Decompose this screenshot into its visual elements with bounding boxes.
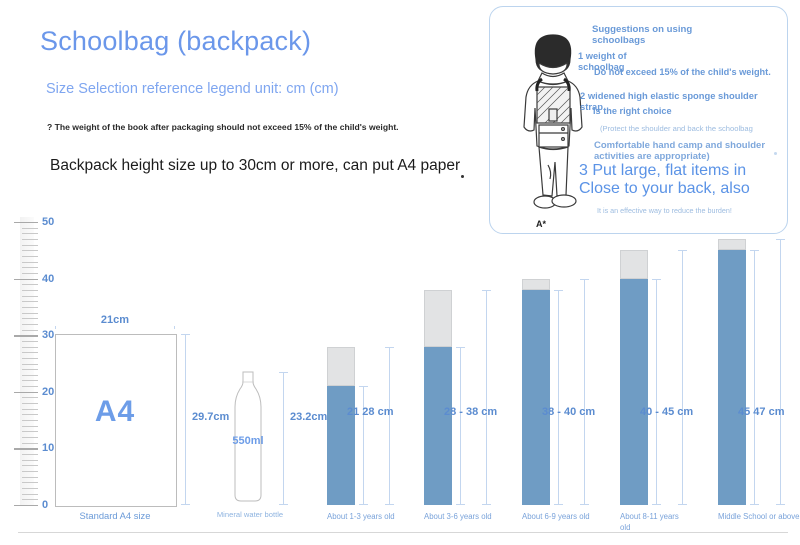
ruler-tick-minor — [22, 228, 38, 229]
a4-caption: Standard A4 size — [40, 510, 190, 521]
ruler-tick-minor — [22, 341, 38, 342]
bar-min-dimension-line — [460, 347, 461, 505]
ruler-tick-minor — [22, 267, 38, 268]
bar-segment-min-height — [327, 386, 355, 505]
ruler-tick-minor — [22, 352, 38, 353]
card-item3: 3 Put large, flat items in Close to your… — [579, 162, 750, 198]
card-heading: Suggestions on using schoolbags — [592, 24, 692, 47]
ruler-tick-minor — [22, 313, 38, 314]
ruler-tick-minor — [22, 409, 38, 410]
y-axis-tick-label: 50 — [42, 216, 54, 228]
ruler-tick-minor — [22, 296, 38, 297]
bar-segment-min-height — [522, 290, 550, 505]
ruler-tick-minor — [22, 250, 38, 251]
ruler-tick-minor — [22, 239, 38, 240]
bottle-height-label: 23.2cm — [290, 411, 327, 423]
y-axis-tick-label: 20 — [42, 386, 54, 398]
size-comparison-chart: 01020304050 21cm A4 29.7cm Standard A4 s… — [0, 205, 800, 545]
bar-range-label: 21 28 cm — [347, 406, 393, 418]
bar-segment-min-height — [718, 250, 746, 505]
ruler-tick-minor — [22, 414, 38, 415]
ruler-tick-major — [14, 392, 38, 393]
ruler-tick-minor — [22, 403, 38, 404]
ruler-tick-minor — [22, 256, 38, 257]
bar-range-label: 38 - 40 cm — [542, 406, 595, 418]
ruler-tick-minor — [22, 488, 38, 489]
ruler-tick-minor — [22, 426, 38, 427]
ruler-tick-minor — [22, 347, 38, 348]
bar-caption: About 8-11 years old — [620, 512, 688, 533]
ruler-tick-minor — [22, 460, 38, 461]
bar-max-dimension-line — [682, 250, 683, 505]
ruler-tick-minor — [22, 375, 38, 376]
bar-caption: About 1-3 years old — [327, 512, 395, 523]
bar-min-dimension-line — [656, 279, 657, 505]
suggestions-card: A* Suggestions on using schoolbags 1 wei… — [489, 6, 788, 234]
ruler-tick-minor — [22, 330, 38, 331]
ruler-tick-major — [14, 448, 38, 449]
ruler-tick-minor — [22, 262, 38, 263]
bar-min-dimension-line — [754, 250, 755, 505]
ruler-tick-minor — [22, 301, 38, 302]
ruler-tick-minor — [22, 482, 38, 483]
bar-segment-upper-range — [424, 290, 452, 347]
bottle-height-dimension — [283, 372, 284, 505]
a4-height-label: 29.7cm — [192, 411, 229, 423]
ruler-tick-major — [14, 222, 38, 223]
bar-caption: About 6-9 years old — [522, 512, 590, 523]
ruler-tick-minor — [22, 307, 38, 308]
bar-segment-upper-range — [522, 279, 550, 290]
ruler-tick-minor — [22, 494, 38, 495]
bar-min-dimension-line — [363, 386, 364, 505]
ruler-tick-minor — [22, 420, 38, 421]
note-end-dot — [461, 175, 464, 178]
card-comfort-note: Comfortable hand camp and shoulder activ… — [594, 140, 765, 162]
card-bullet-dot — [774, 152, 777, 155]
y-axis-tick-label: 10 — [42, 442, 54, 454]
ruler-tick-minor — [22, 245, 38, 246]
bar-max-dimension-line — [584, 279, 585, 505]
poster-canvas: Schoolbag (backpack) Size Selection refe… — [0, 0, 800, 545]
ruler-tick-minor — [22, 499, 38, 500]
ruler-tick-major — [14, 505, 38, 506]
ruler-tick-minor — [22, 443, 38, 444]
bar-max-dimension-line — [389, 347, 390, 505]
size-bar[interactable] — [424, 290, 452, 505]
bar-caption: Middle School or above — [718, 512, 800, 523]
bar-range-label: 40 - 45 cm — [640, 406, 693, 418]
bar-segment-upper-range — [718, 239, 746, 250]
ruler-tick-minor — [22, 364, 38, 365]
ruler-tick-minor — [22, 397, 38, 398]
y-axis-tick-label: 40 — [42, 273, 54, 285]
ruler-tick-minor — [22, 431, 38, 432]
a4-width-label: 21cm — [55, 314, 175, 326]
size-bar[interactable] — [620, 250, 648, 505]
bar-max-dimension-line — [780, 239, 781, 505]
y-axis-tick-label: 30 — [42, 329, 54, 341]
bar-segment-min-height — [424, 347, 452, 505]
bottle-volume-label: 550ml — [228, 435, 268, 447]
bar-segment-upper-range — [620, 250, 648, 278]
bar-caption: About 3-6 years old — [424, 512, 492, 523]
size-bar[interactable] — [327, 347, 355, 505]
y-axis-ruler — [20, 217, 34, 505]
ruler-tick-major — [14, 335, 38, 336]
page-title: Schoolbag (backpack) — [40, 26, 311, 57]
card-paren-note: (Protect the shoulder and back the schoo… — [600, 125, 753, 134]
ruler-tick-minor — [22, 233, 38, 234]
card-item2-body: Is the right choice — [593, 106, 672, 117]
card-item1-body: Do not exceed 15% of the child's weight. — [594, 67, 771, 78]
weight-warning-note: ? The weight of the book after packaging… — [47, 122, 399, 132]
bar-min-dimension-line — [558, 290, 559, 505]
ruler-tick-minor — [22, 437, 38, 438]
bar-segment-upper-range — [327, 347, 355, 387]
a4-capacity-note: Backpack height size up to 30cm or more,… — [50, 157, 460, 175]
ruler-tick-minor — [22, 369, 38, 370]
bar-max-dimension-line — [486, 290, 487, 505]
ruler-tick-minor — [22, 471, 38, 472]
bar-range-label: 45 47 cm — [738, 406, 784, 418]
a4-sheet-text: A4 — [55, 395, 175, 429]
ruler-tick-minor — [22, 324, 38, 325]
ruler-tick-minor — [22, 454, 38, 455]
ruler-tick-major — [14, 279, 38, 280]
ruler-tick-minor — [22, 477, 38, 478]
ruler-tick-minor — [22, 284, 38, 285]
a4-height-dimension — [185, 334, 186, 505]
ruler-tick-minor — [22, 386, 38, 387]
page-subtitle: Size Selection reference legend unit: cm… — [46, 81, 339, 97]
ruler-tick-minor — [22, 290, 38, 291]
ruler-tick-minor — [22, 318, 38, 319]
ruler-tick-minor — [22, 380, 38, 381]
ruler-tick-minor — [22, 273, 38, 274]
ruler-tick-minor — [22, 465, 38, 466]
bar-segment-min-height — [620, 279, 648, 505]
size-bar[interactable] — [718, 239, 746, 505]
ruler-tick-minor — [22, 358, 38, 359]
size-bar[interactable] — [522, 279, 550, 505]
bottle-caption: Mineral water bottle — [205, 510, 295, 519]
bar-range-label: 28 - 38 cm — [444, 406, 497, 418]
